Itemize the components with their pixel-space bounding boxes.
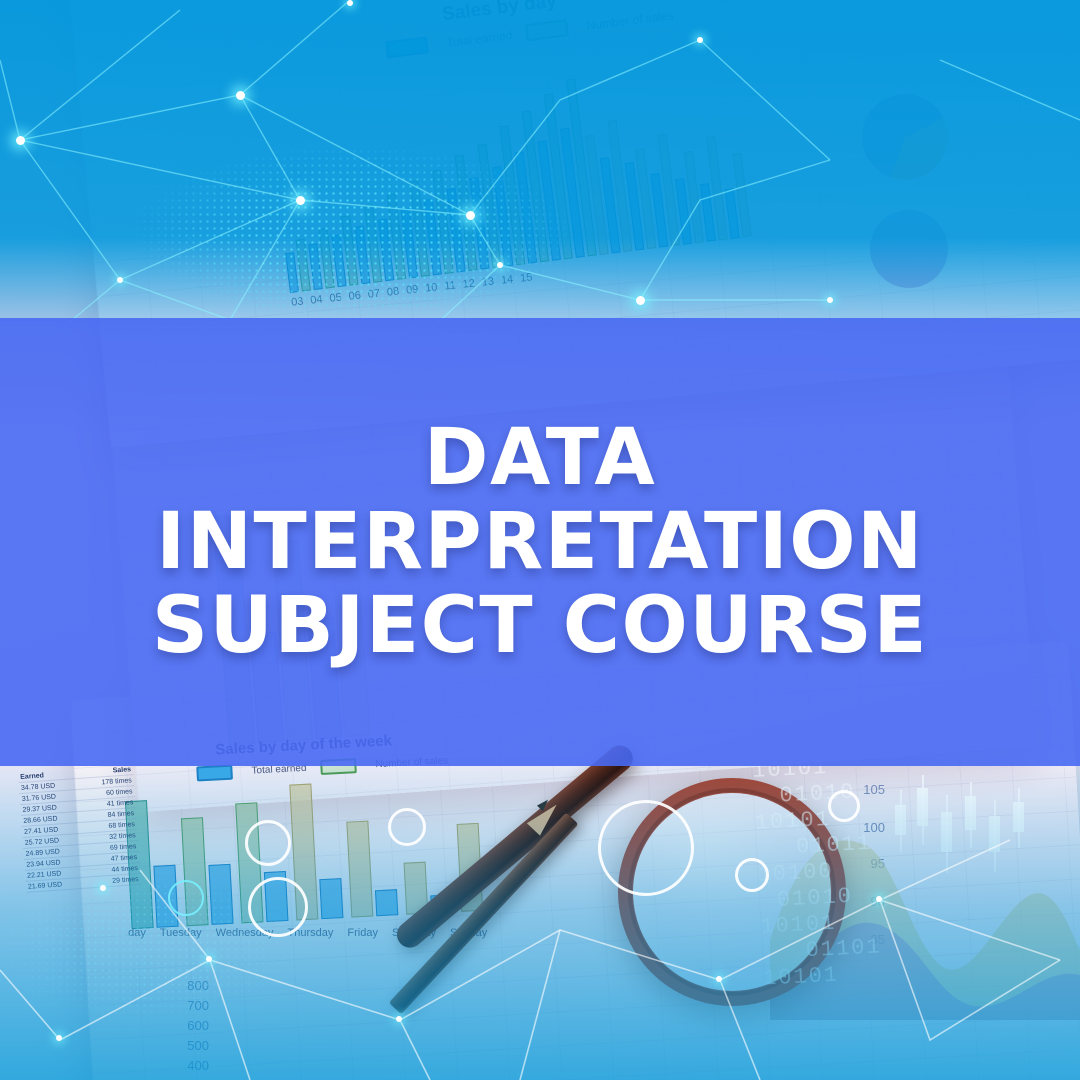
network-node (466, 211, 475, 220)
bokeh-circle (828, 790, 860, 822)
network-node (396, 1016, 402, 1022)
title-banner: DATA INTERPRETATION SUBJECT COURSE (0, 318, 1080, 766)
bokeh-circle (245, 820, 291, 866)
network-node (16, 136, 25, 145)
bokeh-circle (388, 808, 426, 846)
network-node (497, 262, 503, 268)
network-node (876, 896, 882, 902)
network-node (117, 277, 123, 283)
title-line-1: DATA (424, 419, 657, 497)
bokeh-circle (598, 800, 694, 896)
bokeh-circle (735, 858, 769, 892)
network-node (236, 91, 245, 100)
title-block: DATA INTERPRETATION SUBJECT COURSE (0, 318, 1080, 766)
network-node (100, 885, 106, 891)
network-node (56, 1035, 62, 1041)
network-node (296, 196, 305, 205)
network-node (716, 976, 722, 982)
network-node (827, 297, 833, 303)
network-node (347, 0, 353, 6)
network-node (697, 37, 703, 43)
bokeh-circle (248, 877, 308, 937)
title-line-2: INTERPRETATION (156, 503, 924, 581)
network-node (636, 296, 645, 305)
title-line-3: SUBJECT COURSE (152, 587, 928, 665)
course-promo-banner: Sales by day of the week Total earned Nu… (0, 0, 1080, 1080)
network-node (206, 956, 212, 962)
bokeh-circle (168, 880, 204, 916)
